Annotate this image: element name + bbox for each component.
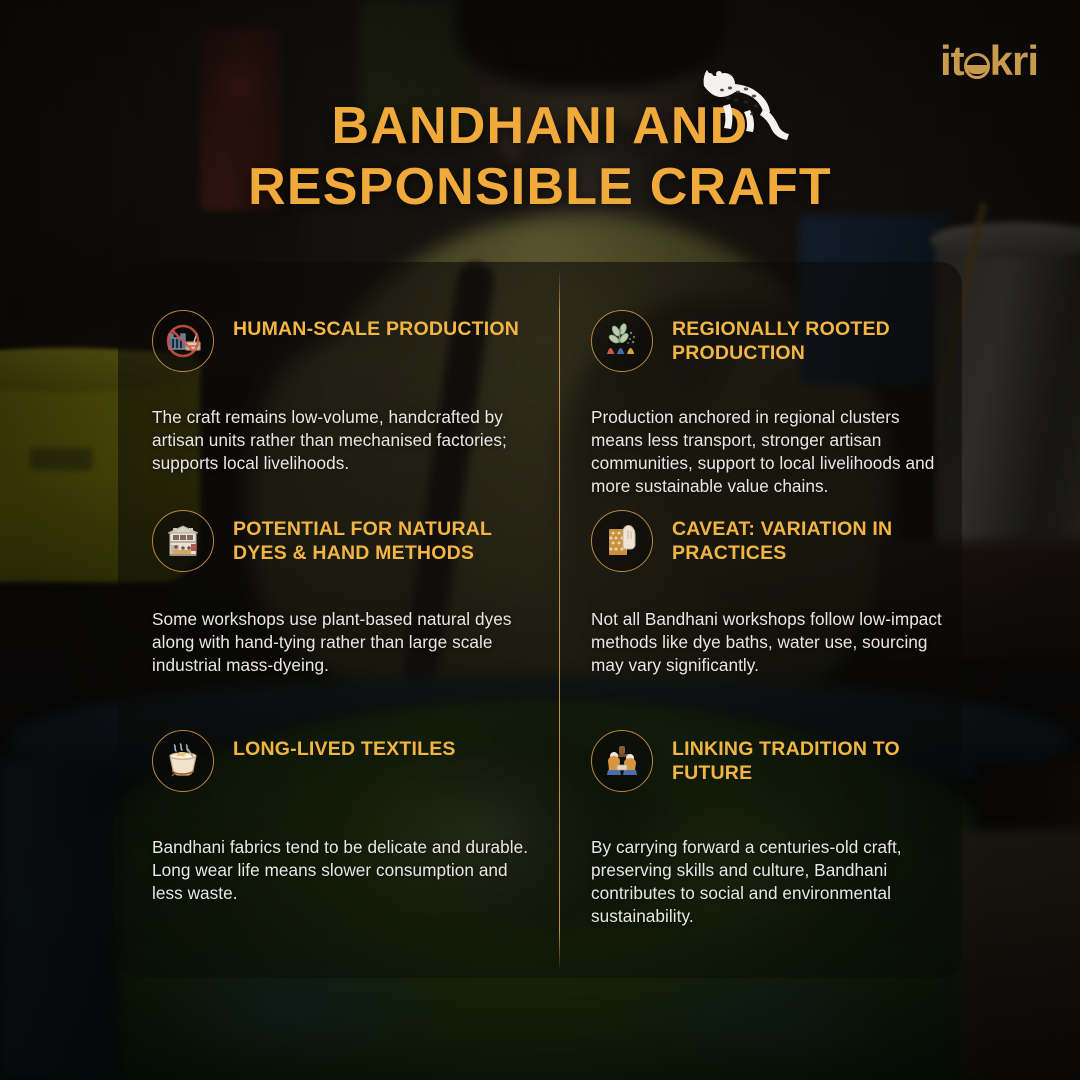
page-title: BANDHANI AND RESPONSIBLE CRAFT — [0, 96, 1080, 218]
two-artisans-icon — [591, 730, 653, 792]
card-title: POTENTIAL FOR NATURAL DYES & HAND METHOD… — [233, 510, 533, 566]
card-title: HUMAN-SCALE PRODUCTION — [233, 310, 519, 342]
card-potential-for-natural-dyes: POTENTIAL FOR NATURAL DYES & HAND METHOD… — [118, 472, 559, 682]
card-title: LONG-LIVED TEXTILES — [233, 730, 456, 762]
title-line-2: RESPONSIBLE CRAFT — [0, 157, 1080, 218]
card-title: REGIONALLY ROOTED PRODUCTION — [672, 310, 942, 366]
card-human-scale-production: HUMAN-SCALE PRODUCTION The craft remains… — [118, 262, 559, 472]
workshop-building-icon — [152, 510, 214, 572]
brand-logo-text-before: it — [940, 37, 964, 84]
card-long-lived-textiles: LONG-LIVED TEXTILES Bandhani fabrics ten… — [118, 682, 559, 978]
no-factory-icon — [152, 310, 214, 372]
card-body: The craft remains low-volume, handcrafte… — [152, 406, 535, 475]
steaming-dye-pot-icon — [152, 730, 214, 792]
plants-and-pigments-icon — [591, 310, 653, 372]
card-caveat-variation-in-practices: CAVEAT: VARIATION IN PRACTICES Not all B… — [559, 472, 962, 682]
card-body: Bandhani fabrics tend to be delicate and… — [152, 836, 535, 905]
card-body: By carrying forward a centuries-old craf… — [591, 836, 942, 928]
card-body: Not all Bandhani workshops follow low-im… — [591, 608, 942, 677]
basket-icon — [964, 53, 990, 79]
leopard-icon — [686, 52, 802, 148]
card-linking-tradition-to-future: LINKING TRADITION TO FUTURE By carrying … — [559, 682, 962, 978]
cards-grid: HUMAN-SCALE PRODUCTION The craft remains… — [118, 262, 962, 978]
title-line-1: BANDHANI AND — [0, 96, 1080, 157]
card-regionally-rooted-production: REGIONALLY ROOTED PRODUCTION Production … — [559, 262, 962, 472]
card-body: Some workshops use plant-based natural d… — [152, 608, 535, 677]
hand-holding-fabric-icon — [591, 510, 653, 572]
card-title: LINKING TRADITION TO FUTURE — [672, 730, 942, 786]
card-title: CAVEAT: VARIATION IN PRACTICES — [672, 510, 942, 566]
brand-logo[interactable]: itkri — [940, 40, 1038, 82]
brand-logo-text-after: kri — [990, 37, 1038, 84]
